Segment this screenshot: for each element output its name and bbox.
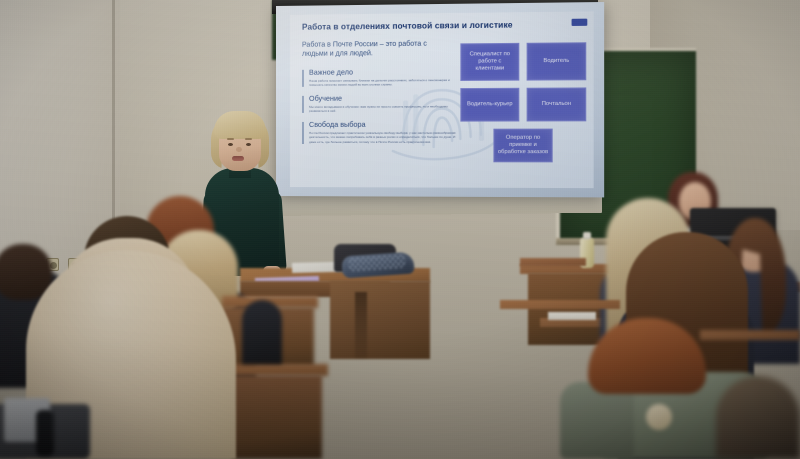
teacher-desk-side	[330, 281, 430, 359]
podium-papers	[548, 312, 596, 320]
bullet-heading: Обучение	[309, 94, 456, 103]
bullet-heading: Свобода выбора	[309, 121, 456, 130]
presenter-brow	[245, 138, 252, 140]
bag-knit-texture	[347, 254, 406, 272]
side-podium-body	[528, 273, 608, 345]
left-desk-front-body	[232, 375, 322, 459]
role-row: Специалист по работе с клиентами Водител…	[460, 42, 587, 81]
right-desk-foreground	[700, 330, 800, 340]
presenter-brow	[227, 138, 234, 140]
slide-bullet-list: Важное дело Наша работа помогает связыва…	[302, 68, 456, 145]
slide-subtitle: Работа в Почте России – это работа с люд…	[302, 39, 454, 59]
presenter-eye	[228, 143, 233, 146]
right-desk-front	[500, 300, 620, 309]
teacher-desk-leg	[355, 292, 367, 358]
bullet-heading: Важное дело	[309, 68, 456, 77]
role-box-order-operator: Оператор по приемке и обработке заказов	[493, 129, 552, 163]
role-box-grid: Специалист по работе с клиентами Водител…	[460, 42, 587, 169]
classroom-scene: Работа в отделениях почтовой связи и лог…	[0, 0, 800, 459]
role-box-driver: Водитель	[527, 42, 587, 80]
role-row: Водитель-курьер Почтальон	[460, 87, 587, 121]
student-head	[716, 376, 800, 459]
presenter-hair-top	[214, 111, 266, 139]
bullet-point: Свобода выбора Почта России предлагает п…	[302, 121, 456, 145]
bullet-point: Важное дело Наша работа помогает связыва…	[302, 68, 456, 88]
role-row: Оператор по приемке и обработке заказов	[460, 129, 587, 163]
bullet-body: Наша работа помогает связывать близких н…	[309, 78, 456, 88]
bullet-body: Мы много вкладываем в обучение: вам нужн…	[309, 104, 456, 114]
postal-logo-badge	[572, 19, 588, 26]
bullet-point: Обучение Мы много вкладываем в обучение:…	[302, 94, 456, 114]
far-desk	[520, 258, 586, 266]
presenter-eye	[246, 143, 251, 146]
role-box-courier-driver: Водитель-курьер	[460, 88, 519, 122]
backpack-patch	[646, 404, 672, 430]
role-box-client-specialist: Специалист по работе с клиентами	[460, 43, 519, 81]
role-box-postman: Почтальон	[527, 87, 587, 121]
bottle-cap	[583, 232, 591, 239]
projection-screen: Работа в отделениях почтовой связи и лог…	[276, 2, 604, 197]
chair-arm	[36, 410, 54, 456]
presenter-mouth	[232, 156, 244, 161]
slide-title: Работа в отделениях почтовой связи и лог…	[302, 20, 583, 32]
bullet-body: Почта России предлагает практически уник…	[309, 131, 456, 145]
presenter-nose	[236, 147, 242, 152]
student-torso	[242, 300, 282, 364]
presentation-slide: Работа в отделениях почтовой связи и лог…	[290, 11, 594, 188]
